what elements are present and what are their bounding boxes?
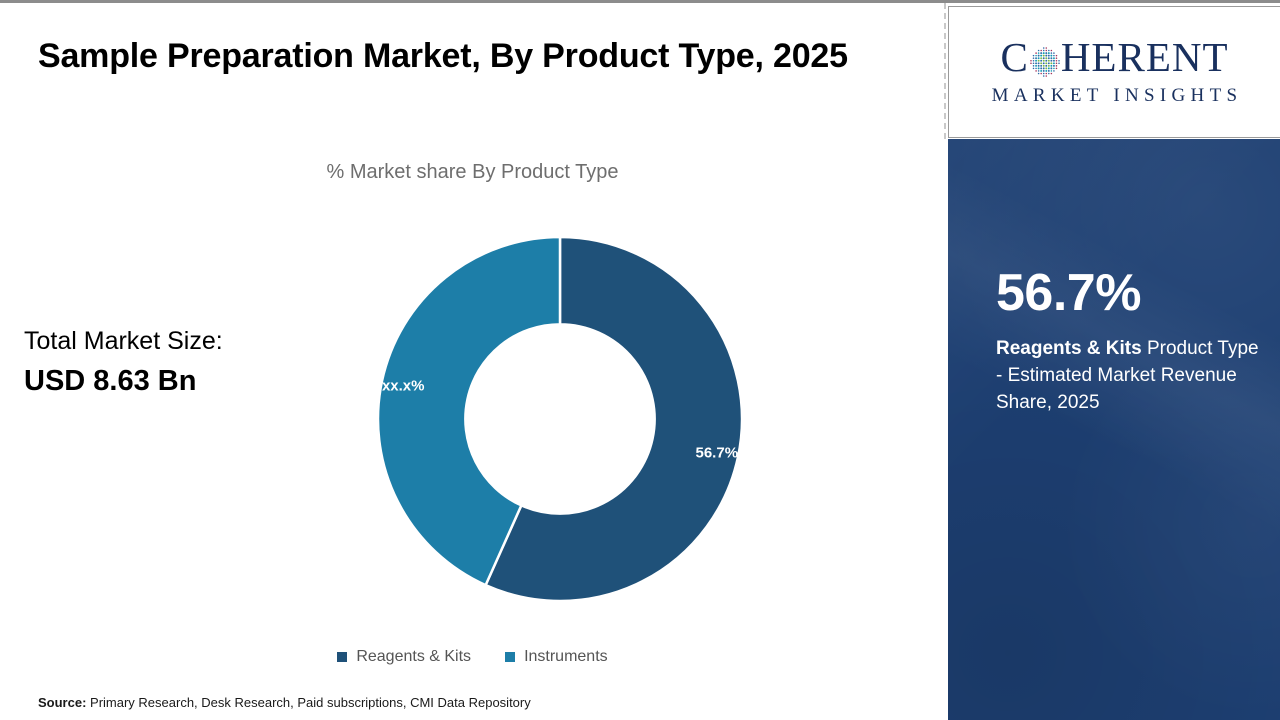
brand-name-part1: C [1000, 37, 1028, 78]
donut-chart: 56.7% xx.x% [372, 231, 748, 607]
side-panel: C HERENT MARKET INSIGHTS 56.7% Reagents … [948, 3, 1280, 720]
main-content-pane: Sample Preparation Market, By Product Ty… [0, 3, 945, 720]
brand-tagline: MARKET INSIGHTS [987, 85, 1243, 107]
legend-swatch-reagents-kits [337, 652, 347, 662]
vertical-dashed-divider [944, 3, 946, 139]
total-market-size-block: Total Market Size: USD 8.63 Bn [24, 325, 324, 401]
stat-description: Reagents & Kits Product Type - Estimated… [996, 336, 1264, 417]
legend-item-reagents-kits[interactable]: Reagents & Kits [337, 648, 471, 666]
source-text: Primary Research, Desk Research, Paid su… [90, 695, 531, 710]
legend-swatch-instruments [505, 652, 515, 662]
chart-subtitle: % Market share By Product Type [0, 161, 945, 184]
stat-panel-content: 56.7% Reagents & Kits Product Type - Est… [948, 267, 1280, 417]
slice-label-reagents-kits: 56.7% [696, 444, 739, 461]
legend-label-reagents-kits: Reagents & Kits [356, 648, 471, 666]
legend-label-instruments: Instruments [524, 648, 608, 666]
donut-chart-svg: 56.7% xx.x% [372, 231, 748, 607]
brand-name-part2: HERENT [1061, 37, 1229, 78]
slice-label-instruments: xx.x% [382, 378, 425, 395]
infographic-frame: Sample Preparation Market, By Product Ty… [0, 0, 1280, 720]
total-market-size-label: Total Market Size: [24, 325, 324, 359]
brand-logo[interactable]: C HERENT MARKET INSIGHTS [948, 6, 1280, 138]
total-market-size-value: USD 8.63 Bn [24, 362, 324, 401]
legend-item-instruments[interactable]: Instruments [505, 648, 608, 666]
source-line: Source: Primary Research, Desk Research,… [38, 695, 531, 710]
stat-description-highlight: Reagents & Kits [996, 338, 1147, 359]
brand-logo-wordmark: C HERENT [1000, 37, 1228, 78]
stat-panel: 56.7% Reagents & Kits Product Type - Est… [948, 139, 1280, 720]
stat-value: 56.7% [996, 267, 1264, 319]
globe-icon [1030, 43, 1060, 73]
donut-slice-group [378, 237, 742, 601]
page-title: Sample Preparation Market, By Product Ty… [38, 31, 868, 81]
chart-legend: Reagents & Kits Instruments [0, 648, 945, 666]
source-label: Source: [38, 695, 86, 710]
